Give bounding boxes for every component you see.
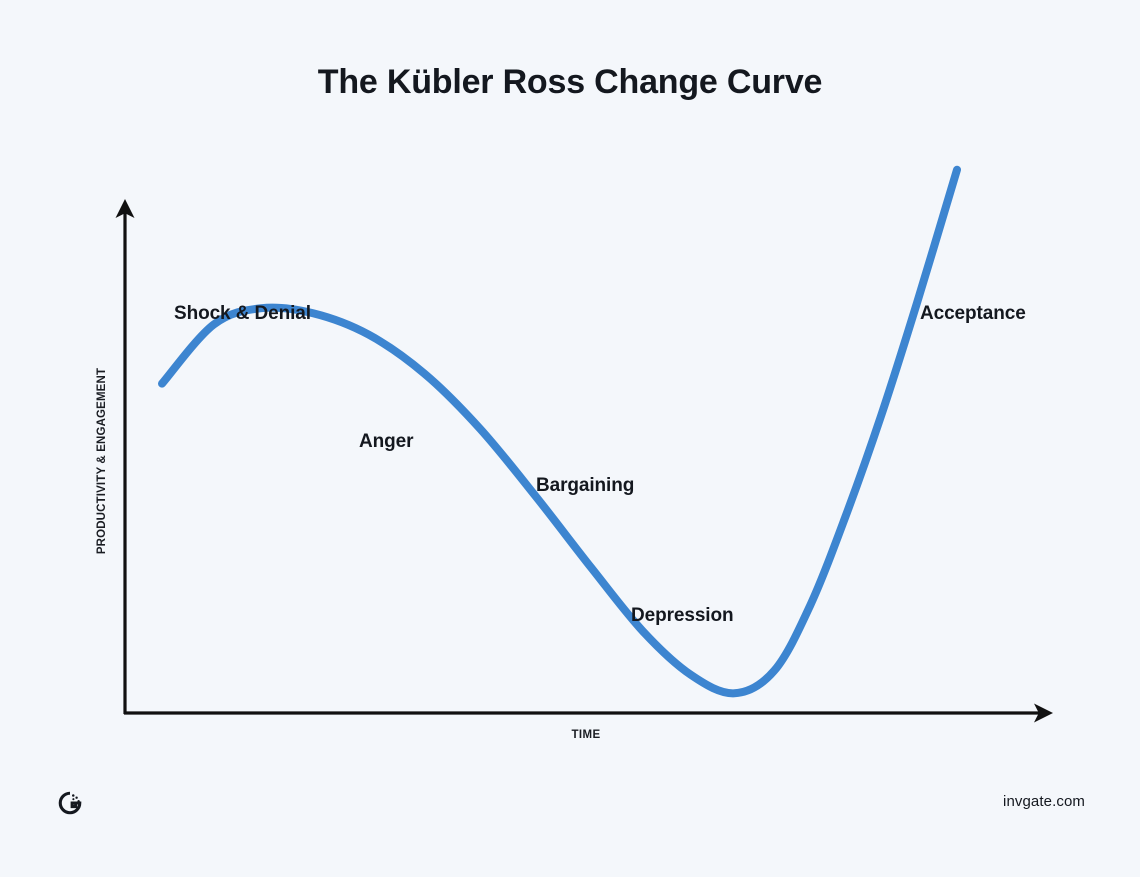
y-axis <box>116 199 135 714</box>
stage-label-shock-and-denial: Shock & Denial <box>174 303 311 325</box>
stage-label-depression: Depression <box>631 605 733 627</box>
stage-label-bargaining: Bargaining <box>536 475 634 497</box>
brand-domain-label: invgate.com <box>885 793 1085 810</box>
y-axis-label: PRODUCTIVITY & ENGAGEMENT <box>96 341 108 581</box>
x-axis-label: TIME <box>506 729 666 741</box>
kubler-ross-curve-plot <box>0 0 1140 877</box>
chart-canvas: The Kübler Ross Change Curve PRODUCTIVIT… <box>0 0 1140 877</box>
stage-label-anger: Anger <box>359 431 413 453</box>
stage-label-acceptance: Acceptance <box>920 303 1026 325</box>
x-axis <box>124 704 1053 723</box>
change-curve-line <box>162 170 957 694</box>
invgate-logo-icon <box>58 791 82 815</box>
